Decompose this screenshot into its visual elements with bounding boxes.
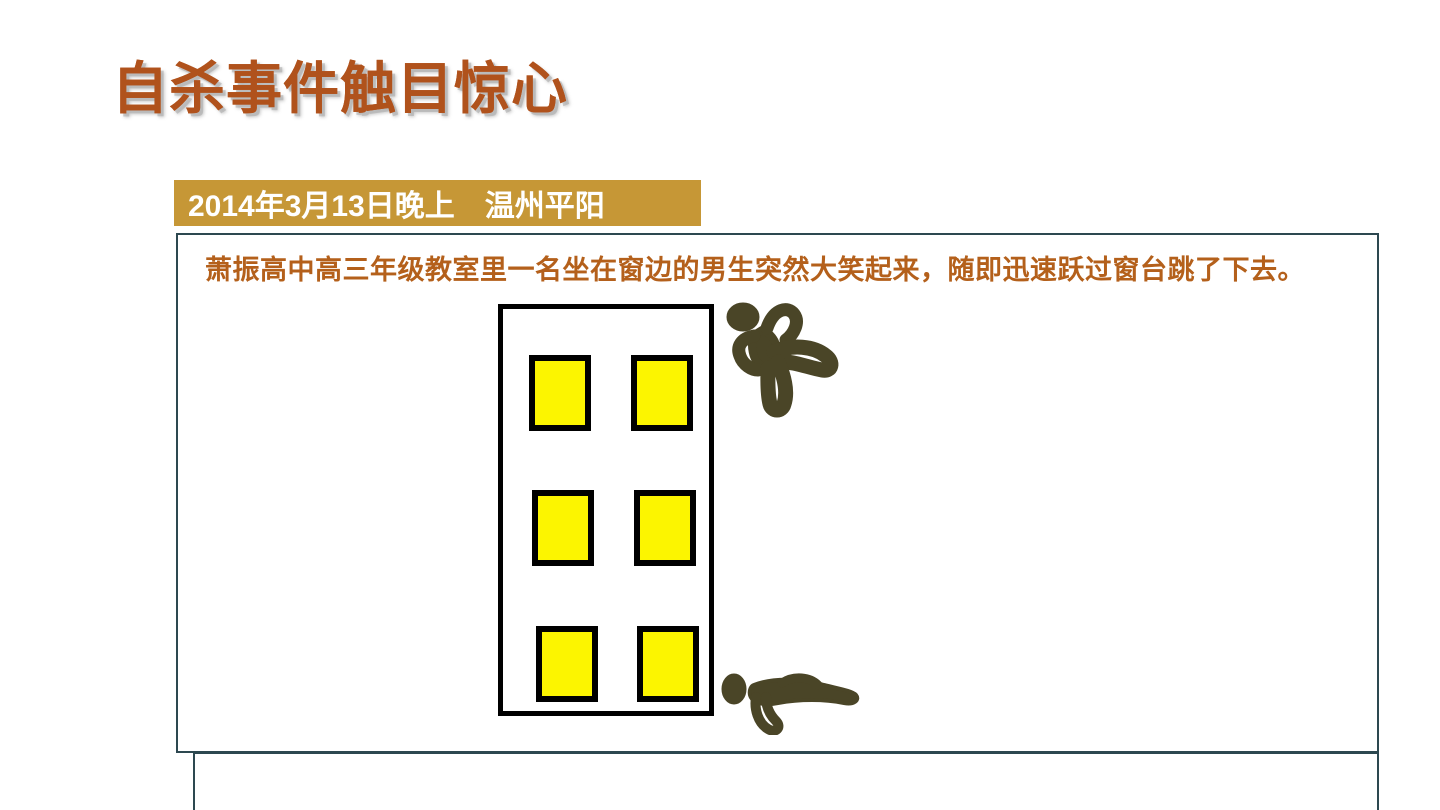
building-window-r2-c2 xyxy=(634,490,696,566)
building-window-r2-c1 xyxy=(532,490,594,566)
building-window-r3-c2 xyxy=(637,626,699,702)
building-window-r1-c1 xyxy=(529,355,591,431)
lying-person-pictogram xyxy=(720,665,870,740)
date-location-banner: 2014年3月13日晚上 温州平阳 xyxy=(174,180,701,226)
body-paragraph: 萧振高中高三年级教室里一名坐在窗边的男生突然大笑起来，随即迅速跃过窗台跳了下去。 xyxy=(205,250,1355,292)
content-frame-lower xyxy=(193,752,1379,810)
building-window-r3-c1 xyxy=(536,626,598,702)
school-building xyxy=(498,304,714,716)
banner-label: 2014年3月13日晚上 温州平阳 xyxy=(188,181,605,225)
building-window-r1-c2 xyxy=(631,355,693,431)
falling-person-pictogram xyxy=(722,300,850,425)
slide-canvas: 自杀事件触目惊心 自杀事件触目惊心 2014年3月13日晚上 温州平阳 萧振高中… xyxy=(0,0,1440,810)
page-title: 自杀事件触目惊心 xyxy=(112,62,568,118)
